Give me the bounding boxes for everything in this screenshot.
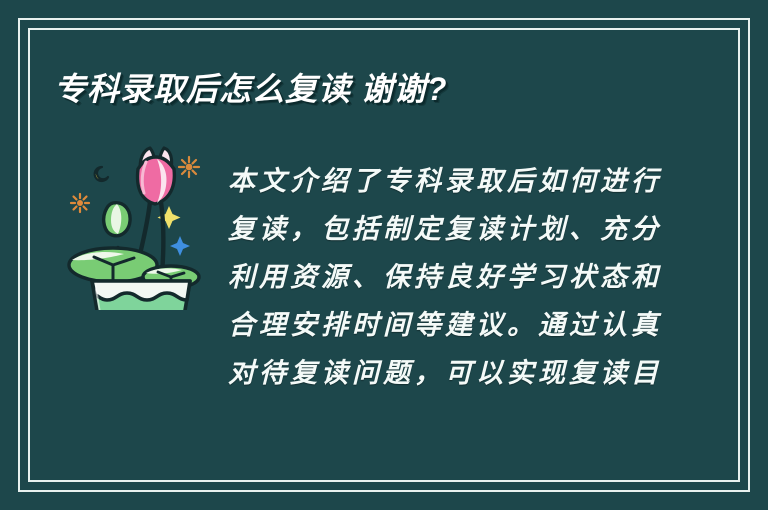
body-line: 合理安排时间等建议。通过认真 [228, 302, 664, 350]
body-copy: 本文介绍了专科录取后如何进行 复读，包括制定复读计划、充分 利用资源、保持良好学… [228, 158, 664, 398]
body-line: 利用资源、保持良好学习状态和 [228, 254, 664, 302]
poster-canvas: 专科录取后怎么复读 谢谢? [0, 0, 768, 510]
crescent-sparkle-icon [95, 167, 108, 181]
page-title: 专科录取后怎么复读 谢谢? [54, 64, 447, 110]
body-line: 本文介绍了专科录取后如何进行 [228, 158, 664, 206]
body-line: 对待复读问题，可以实现复读目 [228, 350, 664, 398]
tulip-flower [138, 148, 175, 204]
small-leaf [104, 203, 130, 236]
star-sparkle-blue-bottom-icon [170, 236, 190, 256]
burst-sparkle-orange-left-icon [71, 194, 89, 212]
flower-pot [92, 281, 190, 310]
body-line: 复读，包括制定复读计划、充分 [228, 206, 664, 254]
potted-tulip-illustration [58, 140, 228, 310]
burst-sparkle-orange-right-icon [179, 157, 199, 177]
